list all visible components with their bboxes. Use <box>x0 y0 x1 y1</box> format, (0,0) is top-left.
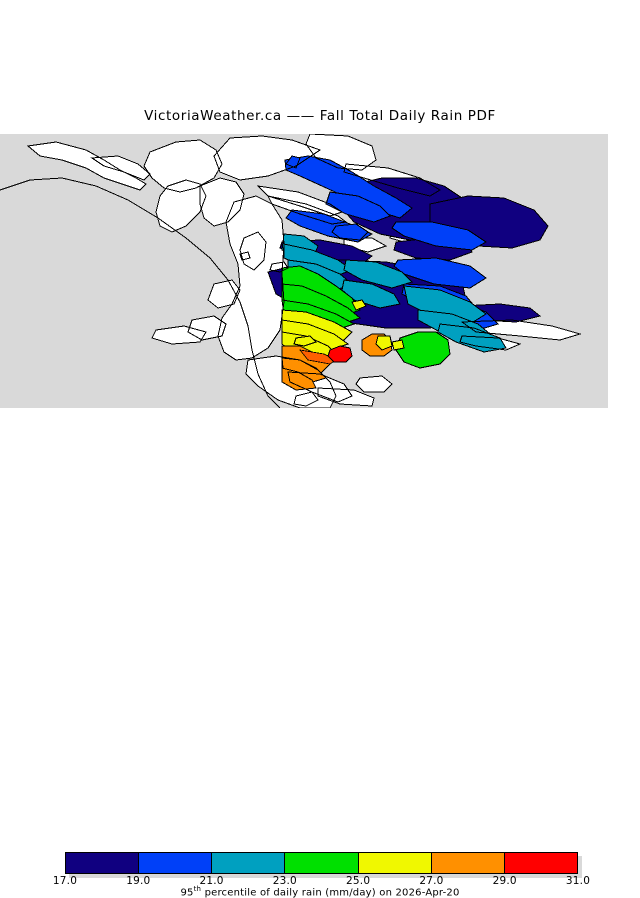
colorbar-caption: 95th percentile of daily rain (mm/day) o… <box>0 885 640 898</box>
colorbar-band-0[interactable] <box>66 853 139 873</box>
colorbar-legend: 17.0 19.0 21.0 23.0 25.0 27.0 29.0 31.0 … <box>0 424 640 480</box>
colorbar-caption-rest: percentile of daily rain (mm/day) on 202… <box>201 887 459 898</box>
colorbar-caption-superscript: th <box>194 885 202 893</box>
colorbar-band-5[interactable] <box>432 853 505 873</box>
colorbar-band-4[interactable] <box>359 853 432 873</box>
region-green-island-yellow-edge[interactable] <box>392 340 404 350</box>
colorbar-band-1[interactable] <box>139 853 212 873</box>
colorbar-band-2[interactable] <box>212 853 285 873</box>
colorbar-bands[interactable] <box>65 852 578 874</box>
colorbar-caption-prefix: 95 <box>180 887 193 898</box>
weather-map-page: VictoriaWeather.ca —— Fall Total Daily R… <box>0 0 640 480</box>
colorbar-band-6[interactable] <box>505 853 577 873</box>
colorbar-band-3[interactable] <box>285 853 358 873</box>
rain-pdf-map[interactable] <box>0 134 608 408</box>
map-canvas <box>0 134 608 408</box>
page-title: VictoriaWeather.ca —— Fall Total Daily R… <box>0 108 640 124</box>
